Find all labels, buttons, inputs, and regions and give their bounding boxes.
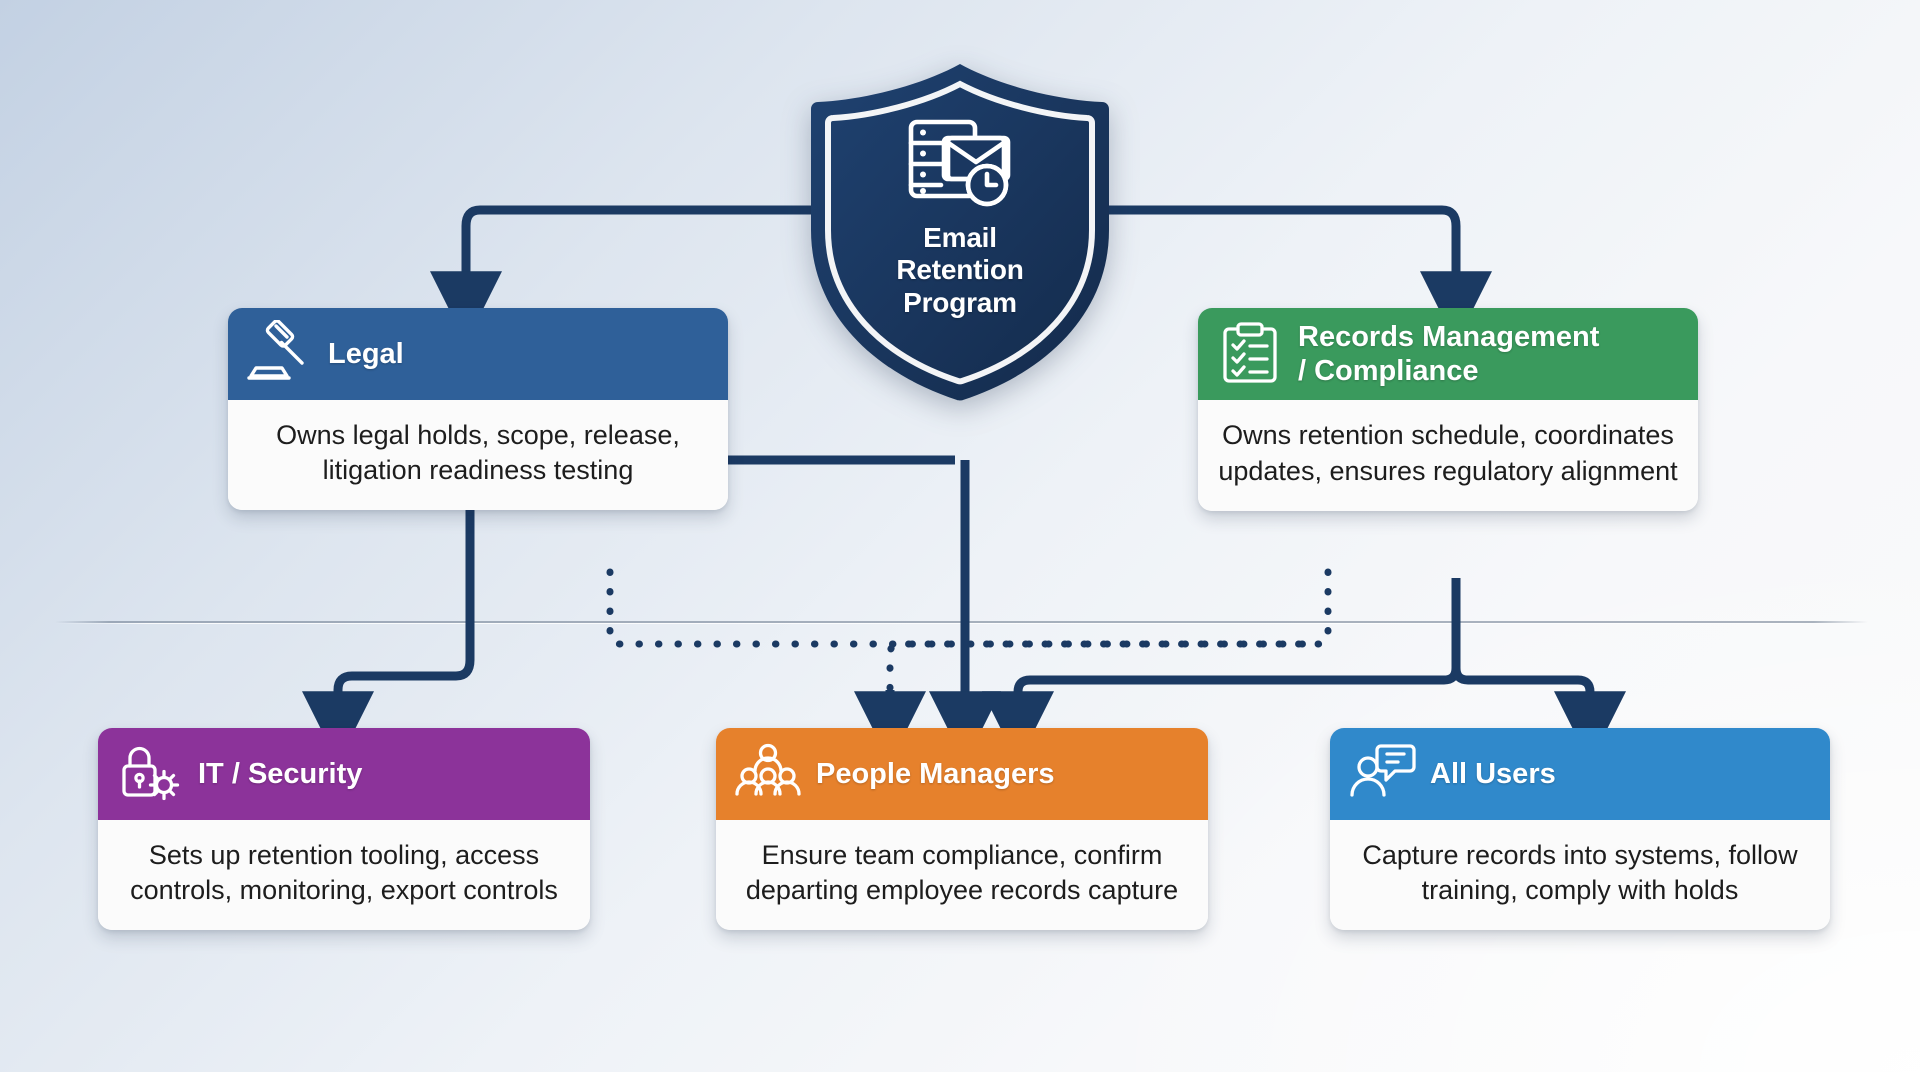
card-records-management[interactable]: Records Management / Compliance Owns ret… (1198, 308, 1698, 511)
card-people-managers-header: People Managers (716, 728, 1208, 820)
wire-records-to-pm (1018, 578, 1456, 702)
card-legal-body: Owns legal holds, scope, release, litiga… (228, 400, 728, 510)
card-it-security-header: IT / Security (98, 728, 590, 820)
center-title-line-3: Program (896, 287, 1023, 319)
tier-divider-line (55, 621, 1868, 623)
lock-gear-icon (116, 740, 184, 808)
diagram-canvas: Email Retention Program Legal Owns legal… (0, 0, 1920, 1072)
wire-legal-dotted-to-pm (610, 572, 1316, 644)
card-all-users[interactable]: All Users Capture records into systems, … (1330, 728, 1830, 930)
user-message-icon (1348, 740, 1416, 808)
wire-center-to-records (1098, 210, 1456, 282)
clipboard-checklist-icon (1216, 320, 1284, 388)
card-legal-header: Legal (228, 308, 728, 400)
card-legal-title: Legal (328, 337, 404, 371)
people-group-icon (734, 740, 802, 808)
center-title-line-1: Email (896, 222, 1023, 254)
card-all-users-body: Capture records into systems, follow tra… (1330, 820, 1830, 930)
card-all-users-title: All Users (1430, 757, 1556, 791)
card-people-managers[interactable]: People Managers Ensure team compliance, … (716, 728, 1208, 930)
card-records-body: Owns retention schedule, coordinates upd… (1198, 400, 1698, 510)
card-it-security-title: IT / Security (198, 757, 362, 791)
card-it-security-body: Sets up retention tooling, access contro… (98, 820, 590, 930)
card-legal[interactable]: Legal Owns legal holds, scope, release, … (228, 308, 728, 510)
email-server-clock-icon (907, 112, 1013, 208)
wire-legal-to-it (338, 578, 470, 702)
card-records-title-line-1: Records Management (1298, 321, 1599, 353)
center-shield-badge: Email Retention Program (800, 60, 1120, 405)
card-it-security[interactable]: IT / Security Sets up retention tooling,… (98, 728, 590, 930)
card-records-title: Records Management / Compliance (1298, 320, 1599, 388)
center-title: Email Retention Program (896, 222, 1023, 319)
wire-center-to-legal (466, 210, 822, 282)
center-title-line-2: Retention (896, 254, 1023, 286)
gavel-icon (246, 320, 314, 388)
card-all-users-header: All Users (1330, 728, 1830, 820)
card-records-title-line-2: / Compliance (1298, 355, 1479, 387)
wire-records-to-users (1456, 578, 1590, 702)
card-people-managers-title: People Managers (816, 757, 1055, 791)
wire-records-dotted (890, 572, 1328, 700)
card-records-header: Records Management / Compliance (1198, 308, 1698, 400)
card-people-managers-body: Ensure team compliance, confirm departin… (716, 820, 1208, 930)
